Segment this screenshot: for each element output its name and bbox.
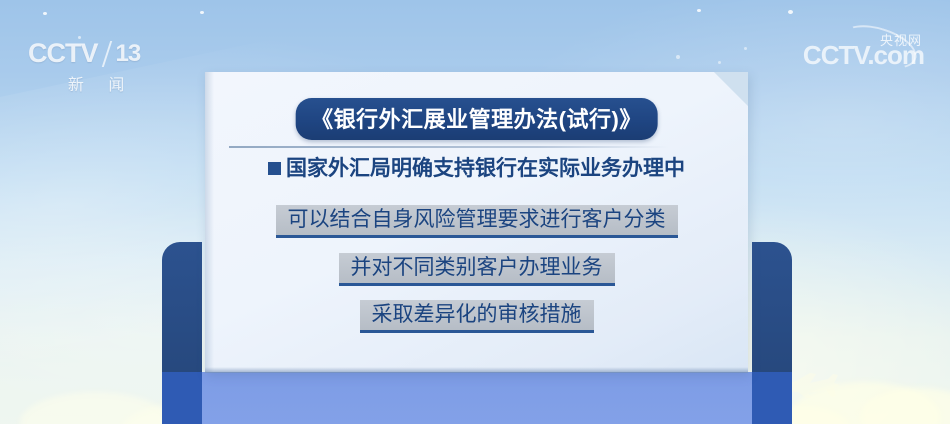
device-base-right bbox=[752, 372, 792, 424]
device-base-left bbox=[162, 372, 202, 424]
page-title: 《银行外汇展业管理办法(试行)》 bbox=[295, 98, 658, 140]
sparkle-dot bbox=[744, 47, 747, 50]
channel-name: 新 闻 bbox=[28, 71, 140, 95]
bullet-square-icon bbox=[268, 162, 281, 175]
info-card: 《银行外汇展业管理办法(试行)》 国家外汇局明确支持银行在实际业务办理中 可以结… bbox=[205, 72, 748, 372]
content-line-text: 国家外汇局明确支持银行在实际业务办理中 bbox=[286, 158, 685, 179]
sparkle-dot bbox=[200, 11, 204, 14]
sparkle-dot bbox=[718, 61, 721, 64]
content-line-text: 采取差异化的审核措施 bbox=[372, 304, 582, 325]
content-line-text: 可以结合自身风险管理要求进行客户分类 bbox=[288, 209, 666, 230]
highlight-band: 可以结合自身风险管理要求进行客户分类 bbox=[276, 205, 678, 238]
watermark-chinese-name: 央视网 bbox=[880, 30, 922, 49]
highlight-band: 并对不同类别客户办理业务 bbox=[339, 253, 615, 286]
highlight-band: 采取差异化的审核措施 bbox=[360, 300, 594, 333]
cctv13-channel-logo: CCTV 13 新 闻 bbox=[28, 38, 140, 95]
cctv-com-watermark: 央视网 CCTV.com bbox=[803, 42, 924, 68]
tablet-device: 《银行外汇展业管理办法(试行)》 国家外汇局明确支持银行在实际业务办理中 可以结… bbox=[162, 72, 792, 424]
sparkle-dot bbox=[43, 12, 47, 15]
content-line: 并对不同类别客户办理业务 bbox=[205, 253, 748, 286]
content-line: 国家外汇局明确支持银行在实际业务办理中 bbox=[205, 158, 748, 179]
sparkle-dot bbox=[697, 9, 701, 12]
cctv-wordmark: CCTV bbox=[28, 38, 98, 69]
content-line: 采取差异化的审核措施 bbox=[205, 300, 748, 333]
sparkle-dot bbox=[788, 10, 793, 14]
device-base bbox=[162, 372, 792, 424]
content-line: 可以结合自身风险管理要求进行客户分类 bbox=[205, 205, 748, 238]
card-bottom-shadow bbox=[205, 367, 748, 372]
channel-number: 13 bbox=[116, 40, 141, 68]
sparkle-dot bbox=[676, 55, 680, 59]
card-folded-corner bbox=[714, 72, 748, 106]
broadcast-frame: CCTV 13 新 闻 央视网 CCTV.com 《银行外汇展业管 bbox=[0, 0, 950, 424]
title-divider bbox=[229, 146, 669, 148]
content-line-text: 并对不同类别客户办理业务 bbox=[351, 257, 603, 278]
logo-divider bbox=[101, 41, 111, 67]
